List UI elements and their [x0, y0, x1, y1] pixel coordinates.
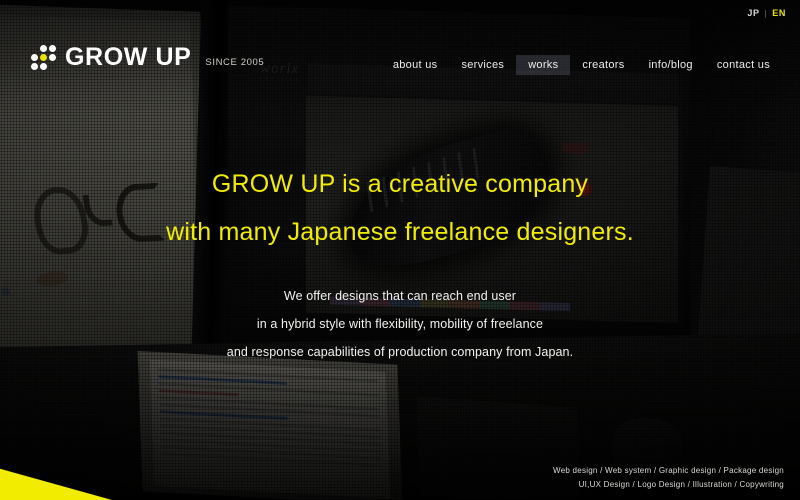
nav-item-creators[interactable]: creators: [570, 55, 636, 75]
nav-item-about-us[interactable]: about us: [381, 55, 450, 75]
brand-tagline: SINCE 2005: [205, 57, 264, 70]
hero-body-line-1: We offer designs that can reach end user: [0, 282, 800, 310]
hero-headline-line-2: with many Japanese freelance designers.: [0, 208, 800, 256]
services-line-2: UI,UX Design / Logo Design / Illustratio…: [553, 478, 784, 492]
nav-item-contact-us[interactable]: contact us: [705, 55, 782, 75]
hero-body-line-2: in a hybrid style with flexibility, mobi…: [0, 310, 800, 338]
six-dot-grid-icon: [30, 44, 56, 70]
main-navigation: about us services works creators info/bl…: [381, 55, 782, 75]
hero-headline-line-1: GROW UP is a creative company: [0, 160, 800, 208]
nav-item-info-blog[interactable]: info/blog: [637, 55, 705, 75]
homepage-hero: worlx CREATIVE: [0, 0, 800, 500]
lang-option-en[interactable]: EN: [772, 8, 786, 18]
services-list: Web design / Web system / Graphic design…: [553, 464, 784, 492]
site-logo[interactable]: GROW UP SINCE 2005: [30, 44, 264, 70]
hero-body-line-3: and response capabilities of production …: [0, 338, 800, 366]
nav-item-works[interactable]: works: [516, 55, 570, 75]
brand-name: GROW UP: [65, 45, 191, 70]
services-line-1: Web design / Web system / Graphic design…: [553, 464, 784, 478]
hero-copy: GROW UP is a creative company with many …: [0, 160, 800, 366]
language-switcher: JP | EN: [0, 0, 800, 26]
hero-body-text: We offer designs that can reach end user…: [0, 282, 800, 366]
nav-item-services[interactable]: services: [449, 55, 516, 75]
hero-headline: GROW UP is a creative company with many …: [0, 160, 800, 256]
lang-separator: |: [765, 9, 768, 18]
lang-option-jp[interactable]: JP: [747, 8, 759, 18]
